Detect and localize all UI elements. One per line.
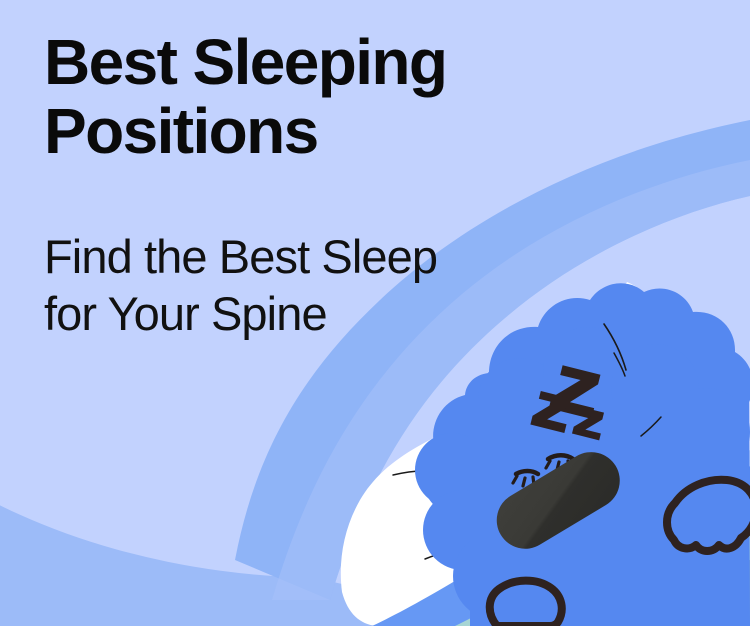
poster-canvas: Best Sleeping Positions Find the Best Sl… [0, 0, 750, 626]
illustration-canvas [0, 0, 750, 626]
